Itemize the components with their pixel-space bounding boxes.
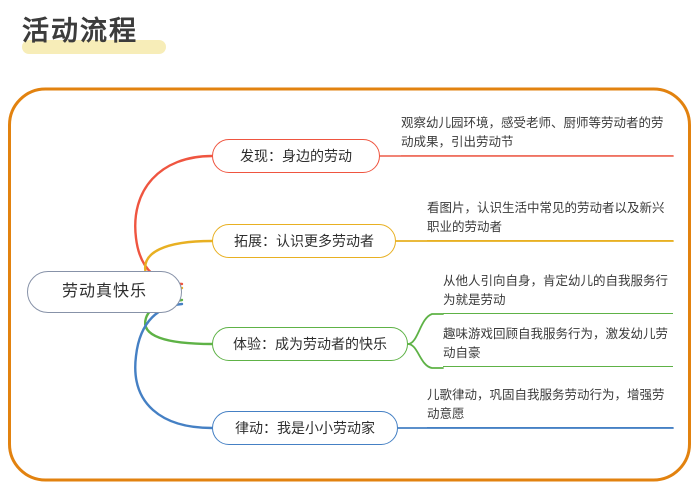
branch-node-tuozhan-label: 拓展：认识更多劳动者 <box>234 234 374 248</box>
branch-node-tiyan-label: 体验：成为劳动者的快乐 <box>233 337 387 351</box>
connector-root-to-faxian <box>135 156 212 284</box>
root-node[interactable]: 劳动真快乐 <box>27 271 182 313</box>
description-faxian-text: 观察幼儿园环境，感受老师、厨师等劳动者的劳动成果，引出劳动节 <box>401 114 673 152</box>
description-lvdong-text: 儿歌律动，巩固自我服务劳动行为，增强劳动意愿 <box>427 386 673 424</box>
branch-node-tuozhan[interactable]: 拓展：认识更多劳动者 <box>212 224 396 258</box>
branch-node-faxian[interactable]: 发现：身边的劳动 <box>212 139 380 173</box>
description-tiyan-1-text: 从他人引向自身，肯定幼儿的自我服务行为就是劳动 <box>443 272 673 310</box>
branch-node-faxian-label: 发现：身边的劳动 <box>240 149 352 163</box>
description-faxian: 观察幼儿园环境，感受老师、厨师等劳动者的劳动成果，引出劳动节 <box>401 114 673 156</box>
description-tuozhan-text: 看图片，认识生活中常见的劳动者以及新兴职业的劳动者 <box>427 199 673 237</box>
description-tiyan-2-text: 趣味游戏回顾自我服务行为，激发幼儿劳动自豪 <box>443 325 673 363</box>
description-tiyan-1: 从他人引向自身，肯定幼儿的自我服务行为就是劳动 <box>443 272 673 314</box>
description-lvdong: 儿歌律动，巩固自我服务劳动行为，增强劳动意愿 <box>427 386 673 428</box>
description-tiyan-2: 趣味游戏回顾自我服务行为，激发幼儿劳动自豪 <box>443 325 673 367</box>
branch-node-lvdong-label: 律动：我是小小劳动家 <box>235 421 375 435</box>
root-node-label: 劳动真快乐 <box>62 284 147 300</box>
branch-node-lvdong[interactable]: 律动：我是小小劳动家 <box>212 411 398 445</box>
connector-root-to-lvdong <box>135 304 212 428</box>
branch-node-tiyan[interactable]: 体验：成为劳动者的快乐 <box>212 327 408 361</box>
connector-tiyan-to-desc-2 <box>408 344 443 368</box>
description-tuozhan: 看图片，认识生活中常见的劳动者以及新兴职业的劳动者 <box>427 199 673 241</box>
connector-tiyan-to-desc-1 <box>408 314 443 344</box>
mindmap-canvas: 活动流程 劳动真快乐 发现：身边的劳动 拓展：认识更多劳动者 体验：成为劳动者的… <box>0 0 700 503</box>
